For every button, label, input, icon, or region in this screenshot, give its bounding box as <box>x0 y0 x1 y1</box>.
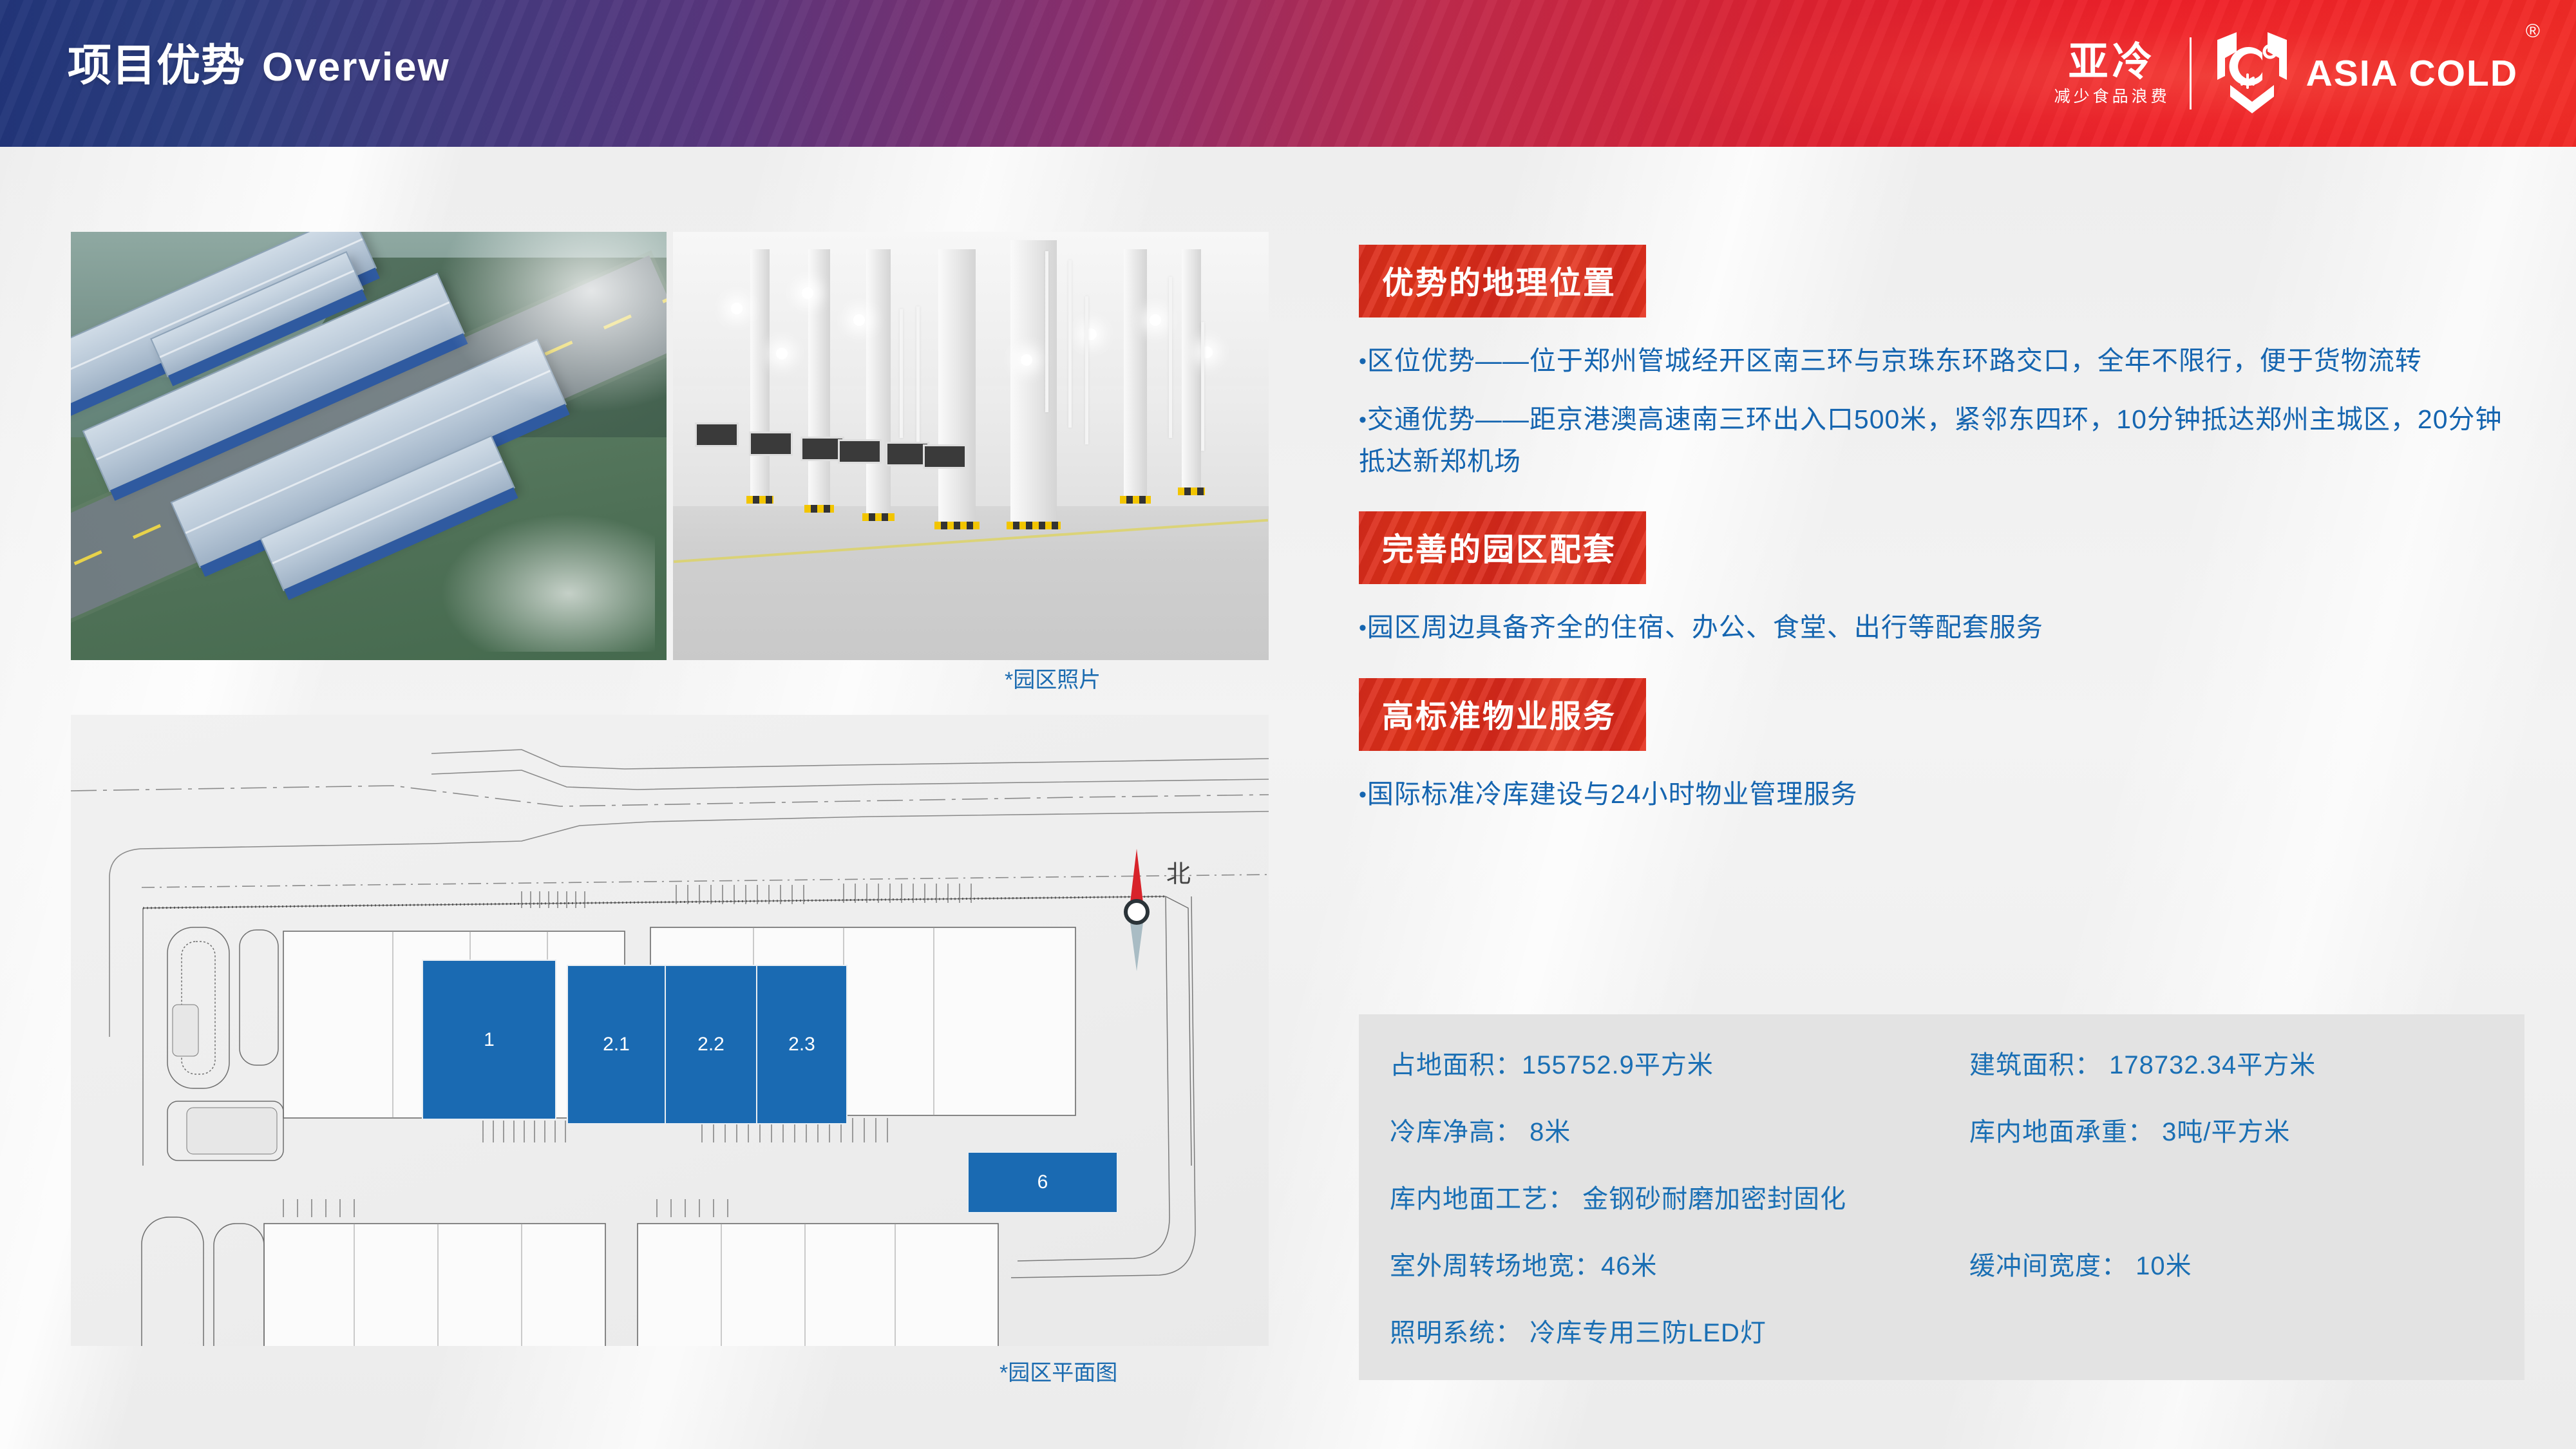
section-heading-property: 高标准物业服务 <box>1359 678 1646 751</box>
interior-pipe-4 <box>1068 260 1072 428</box>
page-title: 项目优势Overview <box>68 30 450 93</box>
asia-cold-shield-icon <box>2211 30 2293 118</box>
site-block-1-label: 1 <box>484 1029 495 1051</box>
logo-cn-name: 亚冷 <box>2069 43 2156 82</box>
section-heading-location-label: 优势的地理位置 <box>1382 266 1616 301</box>
interior-column-5 <box>1010 240 1057 523</box>
bullet-dot-icon: • <box>1359 616 1367 640</box>
logo-cn-slogan: 减少食品浪费 <box>2054 89 2170 105</box>
site-block-2-2[interactable]: 2.2 <box>665 965 757 1124</box>
interior-light-7 <box>1150 314 1161 326</box>
site-block-2-2-label: 2.2 <box>697 1034 724 1056</box>
interior-pipe-2 <box>916 307 920 448</box>
specifications-panel: 占地面积：155752.9平方米 建筑面积： 178732.34平方米 冷库净高… <box>1359 1014 2524 1380</box>
page-title-en: Overview <box>262 45 450 90</box>
interior-pipe-5 <box>1085 296 1088 444</box>
interior-column-7 <box>1182 249 1201 489</box>
brand-logo: 亚冷 减少食品浪费 ASIA COLD <box>2054 22 2518 125</box>
interior-column-1 <box>750 249 770 498</box>
bullet-dot-icon: • <box>1359 408 1367 432</box>
interior-column-4 <box>938 249 976 524</box>
section-heading-location: 优势的地理位置 <box>1359 245 1646 317</box>
logo-en-name: ASIA COLD <box>2306 55 2518 92</box>
interior-pipe-7 <box>1201 322 1204 451</box>
interior-evaporator-4 <box>838 439 882 464</box>
bullet-item: •区位优势——位于郑州管城经开区南三环与京珠东环路交口，全年不限行，便于货物流转 <box>1359 340 2518 382</box>
photo-row <box>71 232 1269 660</box>
bullet-text: 区位优势——位于郑州管城经开区南三环与京珠东环路交口，全年不限行，便于货物流转 <box>1367 346 2422 375</box>
spec-building-area: 建筑面积： 178732.34平方米 <box>1969 1044 2494 1081</box>
spec-row: 占地面积：155752.9平方米 建筑面积： 178732.34平方米 <box>1359 1044 2524 1081</box>
spec-yard-width: 室外周转场地宽：46米 <box>1390 1245 1969 1282</box>
plan-caption: *园区平面图 <box>999 1355 1117 1387</box>
page-title-cn: 项目优势 <box>68 41 245 90</box>
registered-trademark-icon: ® <box>2526 21 2540 43</box>
spec-buffer-width: 缓冲间宽度： 10米 <box>1969 1245 2494 1282</box>
bullet-text: 交通优势——距京港澳高速南三环出入口500米，紧邻东四环，10分钟抵达郑州主城区… <box>1359 404 2503 476</box>
spec-clear-height: 冷库净高： 8米 <box>1390 1111 1969 1148</box>
interior-light-5 <box>1021 354 1032 366</box>
aerial-rendering-photo <box>71 232 667 660</box>
advantages-column: 优势的地理位置 •区位优势——位于郑州管城经开区南三环与京珠东环路交口，全年不限… <box>1359 245 2518 845</box>
aerial-mist-top <box>417 232 667 429</box>
site-block-1[interactable]: 1 <box>422 960 556 1120</box>
spec-row: 照明系统： 冷库专用三防LED灯 <box>1359 1312 2524 1349</box>
page-header: 项目优势Overview 亚冷 减少食品浪费 <box>0 0 2576 147</box>
interior-evaporator-2 <box>749 431 793 456</box>
advantage-section-location: 优势的地理位置 •区位优势——位于郑州管城经开区南三环与京珠东环路交口，全年不限… <box>1359 245 2518 482</box>
bullet-item: •交通优势——距京港澳高速南三环出入口500米，紧邻东四环，10分钟抵达郑州主城… <box>1359 399 2518 482</box>
logo-chinese: 亚冷 减少食品浪费 <box>2054 43 2170 105</box>
spec-land-area: 占地面积：155752.9平方米 <box>1390 1044 1969 1081</box>
site-block-2-3[interactable]: 2.3 <box>756 965 848 1124</box>
spec-row: 冷库净高： 8米 库内地面承重： 3吨/平方米 <box>1359 1111 2524 1148</box>
compass-north-indicator: 北 <box>1111 844 1188 992</box>
site-block-6-label: 6 <box>1037 1171 1048 1193</box>
interior-evaporator-6 <box>923 444 967 469</box>
interior-column-2 <box>808 249 830 506</box>
logo-divider <box>2190 37 2192 109</box>
compass-north-label: 北 <box>1166 854 1191 889</box>
spec-lighting: 照明系统： 冷库专用三防LED灯 <box>1390 1312 1766 1349</box>
spec-row: 库内地面工艺： 金钢砂耐磨加密封固化 <box>1359 1178 2524 1215</box>
spec-floor-finish: 库内地面工艺： 金钢砂耐磨加密封固化 <box>1390 1178 1846 1215</box>
section-heading-facilities: 完善的园区配套 <box>1359 511 1646 584</box>
section-heading-facilities-label: 完善的园区配套 <box>1382 533 1616 567</box>
site-plan-drawing: 1 2.1 2.2 2.3 6 <box>71 715 1269 1346</box>
site-block-2-1-label: 2.1 <box>603 1034 630 1056</box>
spec-floor-load: 库内地面承重： 3吨/平方米 <box>1969 1111 2494 1148</box>
bullet-dot-icon: • <box>1359 349 1367 374</box>
photo-caption: *园区照片 <box>1005 662 1101 694</box>
bullet-item: •园区周边具备齐全的住宿、办公、食堂、出行等配套服务 <box>1359 607 2518 649</box>
section-heading-property-label: 高标准物业服务 <box>1382 699 1616 734</box>
interior-light-1 <box>731 303 743 314</box>
interior-evaporator-1 <box>695 422 739 447</box>
interior-light-3 <box>853 314 865 326</box>
warehouse-interior-photo <box>673 232 1269 660</box>
interior-light-2 <box>802 287 813 299</box>
advantage-section-property: 高标准物业服务 •国际标准冷库建设与24小时物业管理服务 <box>1359 678 2518 815</box>
interior-pipe-6 <box>1169 277 1172 438</box>
interior-pipe-1 <box>900 309 903 438</box>
logo-english-group: ASIA COLD ® <box>2211 30 2518 118</box>
interior-column-6 <box>1124 249 1147 498</box>
advantage-section-facilities: 完善的园区配套 •园区周边具备齐全的住宿、办公、食堂、出行等配套服务 <box>1359 511 2518 649</box>
bullet-text: 国际标准冷库建设与24小时物业管理服务 <box>1367 779 1858 809</box>
site-block-2-3-label: 2.3 <box>788 1034 815 1056</box>
interior-column-3 <box>866 249 891 515</box>
bullet-list-location: •区位优势——位于郑州管城经开区南三环与京珠东环路交口，全年不限行，便于货物流转… <box>1359 340 2518 482</box>
bullet-list-property: •国际标准冷库建设与24小时物业管理服务 <box>1359 773 2518 815</box>
bullet-text: 园区周边具备齐全的住宿、办公、食堂、出行等配套服务 <box>1367 612 2043 642</box>
bullet-item: •国际标准冷库建设与24小时物业管理服务 <box>1359 773 2518 815</box>
aerial-mist-bottom <box>428 506 655 652</box>
bullet-dot-icon: • <box>1359 782 1367 807</box>
interior-pipe-3 <box>1045 251 1048 412</box>
interior-light-4 <box>776 348 788 359</box>
spec-row: 室外周转场地宽：46米 缓冲间宽度： 10米 <box>1359 1245 2524 1282</box>
site-block-6[interactable]: 6 <box>967 1151 1118 1213</box>
bullet-list-facilities: •园区周边具备齐全的住宿、办公、食堂、出行等配套服务 <box>1359 607 2518 649</box>
site-block-2-1[interactable]: 2.1 <box>567 965 666 1124</box>
